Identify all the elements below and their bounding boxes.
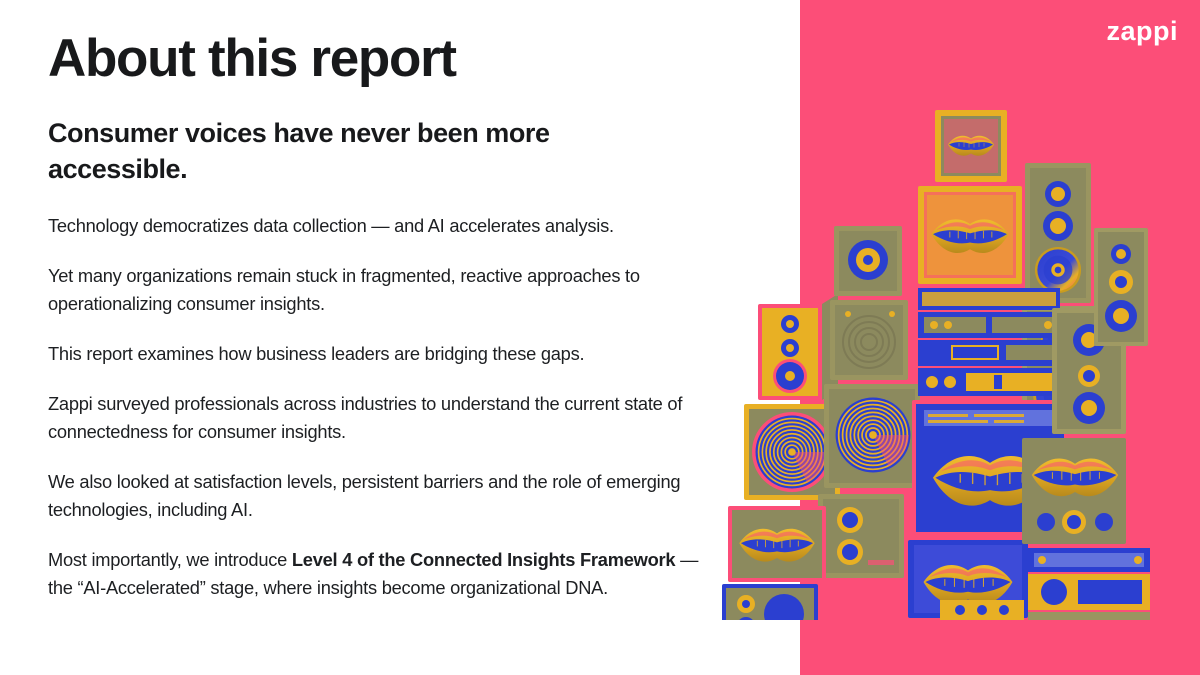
paragraph-3: This report examines how business leader… <box>48 340 708 368</box>
collage-unit-right-lips-panel <box>1022 438 1126 544</box>
stacked-speakers-and-lips-collage <box>722 108 1152 620</box>
zappi-logo: zappi <box>1106 18 1178 45</box>
collage-unit-bottom-left-lips-box <box>728 506 826 582</box>
paragraph-2: Yet many organizations remain stuck in f… <box>48 262 708 318</box>
content-column: About this report Consumer voices have n… <box>48 0 748 602</box>
page-title: About this report <box>48 0 748 88</box>
section-subtitle: Consumer voices have never been more acc… <box>48 88 568 188</box>
collage-unit-far-right-top-tower <box>1094 228 1148 346</box>
slide-root: zappi <box>0 0 1200 675</box>
collage-unit-midleft-driver-box <box>830 300 908 380</box>
body-paragraphs: Technology democratizes data collection … <box>48 188 748 602</box>
collage-unit-midleft-spiral-box <box>824 384 920 488</box>
paragraph-5: We also looked at satisfaction levels, p… <box>48 468 708 524</box>
collage-unit-large-lips-box <box>918 186 1022 284</box>
collage-unit-bottom-left-speaker-box <box>722 584 818 620</box>
collage-unit-bottom-right-receiver <box>1028 548 1150 620</box>
collage-unit-center-stereo-rack <box>918 288 1060 396</box>
collage-unit-midleft-small-box <box>834 226 902 296</box>
paragraph-6: Most importantly, we introduce Level 4 o… <box>48 546 708 602</box>
collage-unit-tall-tower-right <box>1025 163 1091 303</box>
paragraph-1: Technology democratizes data collection … <box>48 212 708 240</box>
collage-unit-midleft-two-driver-box <box>818 494 904 578</box>
collage-unit-bottom-dotted-cabinet <box>940 600 1024 620</box>
collage-unit-top-lips-box <box>935 110 1007 182</box>
paragraph-4: Zappi surveyed professionals across indu… <box>48 390 708 446</box>
